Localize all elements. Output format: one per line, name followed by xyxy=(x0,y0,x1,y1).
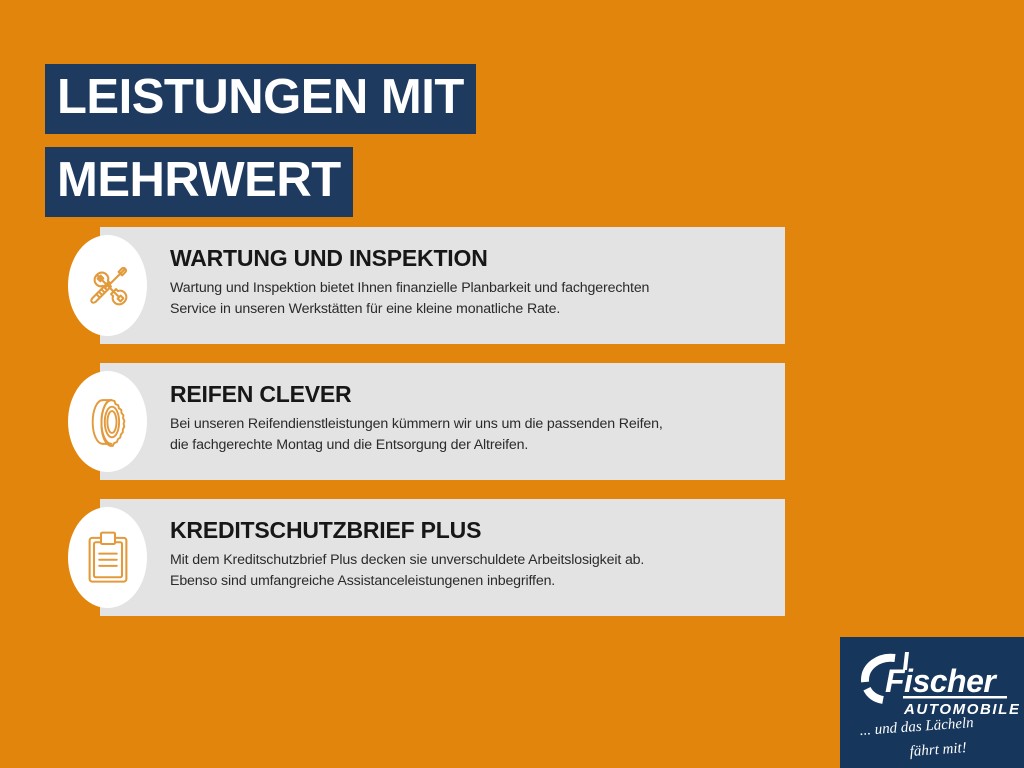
logo-tagline-line-1: ... und das Lächeln xyxy=(859,715,974,739)
card-title: WARTUNG UND INSPEKTION xyxy=(170,246,770,271)
card-description: Wartung und Inspektion bietet Ihnen fina… xyxy=(170,278,770,319)
card-description-line-2: die fachgerechte Montag und die Entsorgu… xyxy=(170,435,770,455)
fischer-automobile-logo[interactable]: Fischer AUTOMOBILE ... und das Lächeln f… xyxy=(840,637,1024,768)
service-card-list: WARTUNG UND INSPEKTION Wartung und Inspe… xyxy=(0,227,1024,635)
page-title: LEISTUNGEN MIT MEHRWERT xyxy=(45,64,476,217)
card-description-line-2: Ebenso sind umfangreiche Assistanceleist… xyxy=(170,571,770,591)
card-text: REIFEN CLEVER Bei unseren Reifendienstle… xyxy=(170,382,770,455)
logo-tagline-line-2: fährt mit! xyxy=(909,740,967,760)
logo-brand-text: Fischer xyxy=(885,663,997,699)
card-description-line-1: Wartung und Inspektion bietet Ihnen fina… xyxy=(170,278,770,298)
tire-icon xyxy=(68,371,147,472)
logo-mark: Fischer AUTOMOBILE xyxy=(849,646,1019,718)
clipboard-icon xyxy=(68,507,147,608)
card-description-line-1: Mit dem Kreditschutzbrief Plus decken si… xyxy=(170,550,770,570)
card-description-line-2: Service in unseren Werkstätten für eine … xyxy=(170,299,770,319)
card-description-line-1: Bei unseren Reifendienstleistungen kümme… xyxy=(170,414,770,434)
card-description: Mit dem Kreditschutzbrief Plus decken si… xyxy=(170,550,770,591)
card-description: Bei unseren Reifendienstleistungen kümme… xyxy=(170,414,770,455)
service-card-reifen-clever[interactable]: REIFEN CLEVER Bei unseren Reifendienstle… xyxy=(0,363,1024,480)
service-card-kreditschutzbrief-plus[interactable]: KREDITSCHUTZBRIEF PLUS Mit dem Kreditsch… xyxy=(0,499,1024,616)
card-title: KREDITSCHUTZBRIEF PLUS xyxy=(170,518,770,543)
logo-tagline: ... und das Lächeln fährt mit! xyxy=(854,715,1014,763)
card-title: REIFEN CLEVER xyxy=(170,382,770,407)
card-text: KREDITSCHUTZBRIEF PLUS Mit dem Kreditsch… xyxy=(170,518,770,591)
service-card-wartung-und-inspektion[interactable]: WARTUNG UND INSPEKTION Wartung und Inspe… xyxy=(0,227,1024,344)
card-text: WARTUNG UND INSPEKTION Wartung und Inspe… xyxy=(170,246,770,319)
wrench-screwdriver-icon xyxy=(68,235,147,336)
page-title-line-2: MEHRWERT xyxy=(45,147,353,217)
page-title-line-1: LEISTUNGEN MIT xyxy=(45,64,476,134)
